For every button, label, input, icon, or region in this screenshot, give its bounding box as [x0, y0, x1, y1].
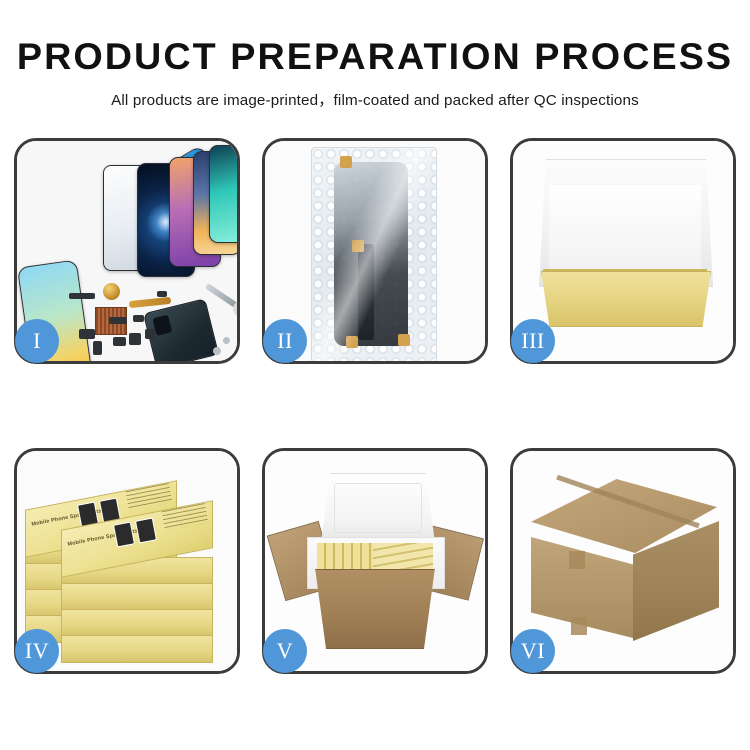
process-step-panel-6[interactable]: VI — [510, 448, 736, 674]
small-part — [93, 341, 102, 355]
flex-cable-component — [129, 297, 172, 308]
small-part — [133, 315, 144, 322]
process-step-panel-2[interactable]: II — [262, 138, 488, 364]
screwdriver-icon — [205, 283, 237, 309]
small-part — [69, 293, 95, 299]
foam-cooler-lid — [321, 473, 435, 543]
small-part — [109, 317, 127, 324]
small-part — [79, 329, 95, 339]
speaker-component — [103, 283, 120, 300]
process-step-panel-4[interactable]: Mobile Phone Spare Parts Mobile Phone Sp… — [14, 448, 240, 674]
small-part — [157, 291, 167, 297]
foam-sheet — [549, 185, 701, 277]
small-part — [145, 329, 155, 339]
step-badge-5: V — [263, 629, 307, 673]
box-tray — [541, 271, 711, 327]
process-step-panel-5[interactable]: V — [262, 448, 488, 674]
phone-mint — [209, 145, 237, 243]
small-part — [113, 337, 126, 346]
retail-box — [61, 635, 213, 663]
carton-tape — [569, 551, 585, 569]
page-title: PRODUCT PREPARATION PROCESS — [0, 38, 750, 77]
carton-body — [307, 569, 443, 649]
step-badge-4: IV — [15, 629, 59, 673]
small-part — [129, 333, 141, 345]
step-badge-1: I — [15, 319, 59, 363]
bubble-wrap-bag — [311, 147, 437, 361]
screw-component — [213, 347, 221, 355]
screw-component — [223, 337, 230, 344]
retail-box-stack: Mobile Phone Spare Parts Mobile Phone Sp… — [25, 471, 235, 657]
carton-tape — [571, 617, 587, 635]
page-header: PRODUCT PREPARATION PROCESS All products… — [0, 0, 750, 110]
process-step-grid: I II — [14, 138, 736, 674]
retail-box — [61, 609, 213, 637]
step-badge-2: II — [263, 319, 307, 363]
bag-sheen — [312, 148, 436, 361]
process-step-panel-3[interactable]: III — [510, 138, 736, 364]
retail-box — [61, 583, 213, 611]
step-badge-6: VI — [511, 629, 555, 673]
page-subtitle: All products are image-printed，film-coat… — [0, 88, 750, 110]
process-step-panel-1[interactable]: I — [14, 138, 240, 364]
step-badge-3: III — [511, 319, 555, 363]
